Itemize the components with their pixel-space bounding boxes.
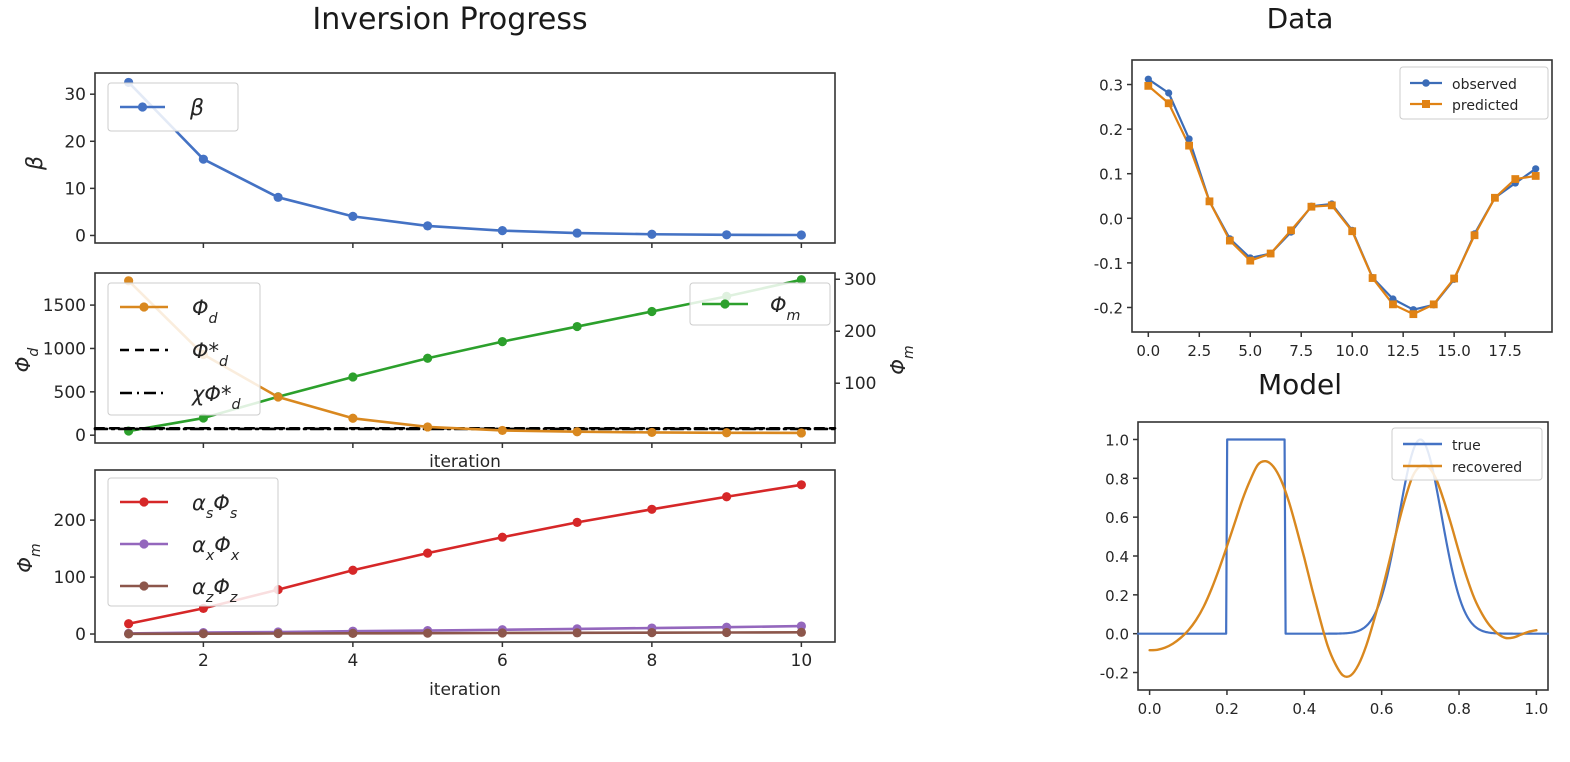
legend-label-true: true	[1452, 438, 1481, 454]
data-marker	[1246, 257, 1254, 265]
data-marker	[348, 414, 357, 423]
data-marker	[199, 155, 208, 164]
data-marker	[1287, 226, 1295, 234]
data-marker	[1491, 194, 1499, 202]
legend-label-observed: observed	[1452, 77, 1517, 93]
data-marker	[647, 628, 656, 637]
x-tick-label: 0.4	[1292, 700, 1316, 718]
y-tick-label: 10	[64, 179, 86, 199]
data-marker	[1471, 231, 1479, 239]
data-title: Data	[1150, 2, 1450, 35]
data-marker	[1430, 300, 1438, 308]
y-tick-label: -0.2	[1100, 665, 1129, 683]
x-tick-label: 5.0	[1238, 342, 1262, 360]
x-tick-label: 17.5	[1488, 342, 1521, 360]
data-marker	[1450, 275, 1458, 283]
y-tick-label: 0	[75, 625, 86, 645]
legend-marker-phim	[720, 299, 729, 308]
data-marker	[573, 322, 582, 331]
data-marker	[348, 566, 357, 575]
x-tick-label: 0.2	[1215, 700, 1239, 718]
y-tick-label: 0.3	[1099, 77, 1123, 95]
data-marker	[797, 230, 806, 239]
data-marker	[1409, 310, 1417, 318]
x-tick-label: 1.0	[1524, 700, 1548, 718]
data-marker	[274, 629, 283, 638]
y-tick-label: 1.0	[1105, 431, 1129, 449]
data-marker	[423, 629, 432, 638]
y-tick-label: 20	[64, 132, 86, 152]
x-tick-label: 0.8	[1447, 700, 1471, 718]
data-marker	[1532, 172, 1540, 180]
data-marker	[1328, 201, 1336, 209]
data-marker	[274, 193, 283, 202]
y-axis-label-phim: Φm	[13, 543, 44, 572]
data-marker	[1206, 197, 1214, 205]
data-marker	[722, 628, 731, 637]
x-axis-label-iteration: iteration	[429, 680, 501, 700]
data-marker	[498, 426, 507, 435]
data-marker	[1511, 175, 1519, 183]
y-axis-label-phim: Φm	[886, 345, 917, 374]
y-tick-label: 0	[75, 426, 86, 446]
data-marker	[1185, 142, 1193, 150]
data-marker	[498, 628, 507, 637]
y-tick-label: 0.0	[1105, 626, 1129, 644]
x-tick-label: 10.0	[1335, 342, 1368, 360]
y-tick-label: 0.0	[1099, 210, 1123, 228]
y-tick-label: 30	[64, 85, 86, 105]
data-marker	[1267, 250, 1275, 258]
legend-marker-beta	[138, 102, 147, 111]
series-line-recovered	[1150, 461, 1537, 677]
data-marker	[797, 480, 806, 489]
data-marker	[1308, 203, 1316, 211]
data-marker	[348, 212, 357, 221]
y-tick-label: 200	[54, 511, 86, 531]
x-tick-label: 12.5	[1386, 342, 1419, 360]
inversion-progress-title: Inversion Progress	[160, 2, 740, 37]
data-marker	[423, 354, 432, 363]
data-marker	[423, 221, 432, 230]
y-axis-label-beta: β	[23, 156, 48, 171]
x-tick-label: 7.5	[1289, 342, 1313, 360]
data-marker	[647, 428, 656, 437]
y-tick-label: 0.6	[1105, 509, 1129, 527]
data-marker	[722, 492, 731, 501]
data-marker	[1144, 82, 1152, 90]
data-marker	[1165, 89, 1172, 96]
legend-marker-phid	[139, 302, 148, 311]
x-tick-label: 8	[646, 651, 657, 671]
data-marker	[423, 549, 432, 558]
data-marker	[797, 428, 806, 437]
data-marker	[722, 230, 731, 239]
data-marker	[498, 533, 507, 542]
beta-panel: 0102030ββ	[0, 45, 900, 260]
y-tick-label: -0.2	[1094, 299, 1123, 317]
x-tick-label: 0.0	[1138, 700, 1162, 718]
legend-marker-1	[139, 539, 148, 548]
x-tick-label: 2.5	[1187, 342, 1211, 360]
data-marker	[722, 428, 731, 437]
x-tick-label: 2	[198, 651, 209, 671]
data-marker	[423, 422, 432, 431]
data-marker	[573, 427, 582, 436]
data-marker	[348, 372, 357, 381]
data-marker	[1165, 99, 1173, 107]
y-tick-label: 1000	[43, 339, 86, 359]
data-marker	[348, 629, 357, 638]
x-tick-label: 0.6	[1370, 700, 1394, 718]
x-tick-label: 0.0	[1136, 342, 1160, 360]
x-tick-label: 6	[497, 651, 508, 671]
legend-marker-2	[139, 581, 148, 590]
y-axis-label-phid: Φd	[11, 348, 42, 373]
y-tick-label: 0.4	[1105, 548, 1129, 566]
data-marker	[573, 518, 582, 527]
series-line	[129, 632, 802, 634]
y-tick-right-label: 200	[844, 322, 876, 342]
y-tick-label: -0.1	[1094, 255, 1123, 273]
x-tick-label: 15.0	[1437, 342, 1470, 360]
misfit-legend	[108, 283, 260, 415]
y-tick-label: 0.1	[1099, 166, 1123, 184]
data-marker	[1389, 300, 1397, 308]
data-marker	[1145, 76, 1152, 83]
y-tick-label: 0.2	[1105, 587, 1129, 605]
data-marker	[199, 629, 208, 638]
legend-marker-predicted	[1422, 100, 1430, 108]
data-marker	[124, 619, 133, 628]
data-marker	[647, 307, 656, 316]
data-marker	[573, 628, 582, 637]
y-tick-label: 1500	[43, 296, 86, 316]
data-marker	[797, 628, 806, 637]
x-tick-label: 4	[347, 651, 358, 671]
y-tick-label: 100	[54, 568, 86, 588]
y-tick-right-label: 300	[844, 270, 876, 290]
legend-label-predicted: predicted	[1452, 98, 1518, 114]
data-marker	[1185, 135, 1192, 142]
data-marker	[1532, 165, 1539, 172]
legend-marker-observed	[1422, 79, 1430, 87]
data-marker	[498, 337, 507, 346]
data-marker	[647, 505, 656, 514]
x-tick-label: 10	[791, 651, 813, 671]
y-tick-label: 0.2	[1099, 121, 1123, 139]
data-marker	[1369, 274, 1377, 282]
data-marker	[498, 226, 507, 235]
data-marker	[274, 392, 283, 401]
data-marker	[1348, 227, 1356, 235]
data-marker	[573, 228, 582, 237]
model-panel: 0.00.20.40.60.81.0-0.20.00.20.40.60.81.0…	[1070, 410, 1570, 740]
misfit-panel: 050010001500100200300ΦdΦ*dχΦ*dΦmΦdΦmiter…	[0, 260, 950, 475]
y-tick-label: 0.8	[1105, 470, 1129, 488]
legend-label-recovered: recovered	[1452, 460, 1522, 476]
y-tick-right-label: 100	[844, 374, 876, 394]
model-title: Model	[1150, 368, 1450, 401]
data-panel: 0.02.55.07.510.012.515.017.5-0.2-0.10.00…	[1070, 42, 1570, 372]
legend-marker-0	[139, 497, 148, 506]
data-marker	[647, 230, 656, 239]
y-tick-label: 0	[75, 226, 86, 246]
regularization-panel: 2468100100200αsΦsαxΦxαzΦzΦmiteration	[0, 462, 900, 707]
data-marker	[1226, 237, 1234, 245]
legend-label-beta: β	[189, 96, 204, 121]
y-tick-label: 500	[54, 383, 86, 403]
data-marker	[124, 629, 133, 638]
